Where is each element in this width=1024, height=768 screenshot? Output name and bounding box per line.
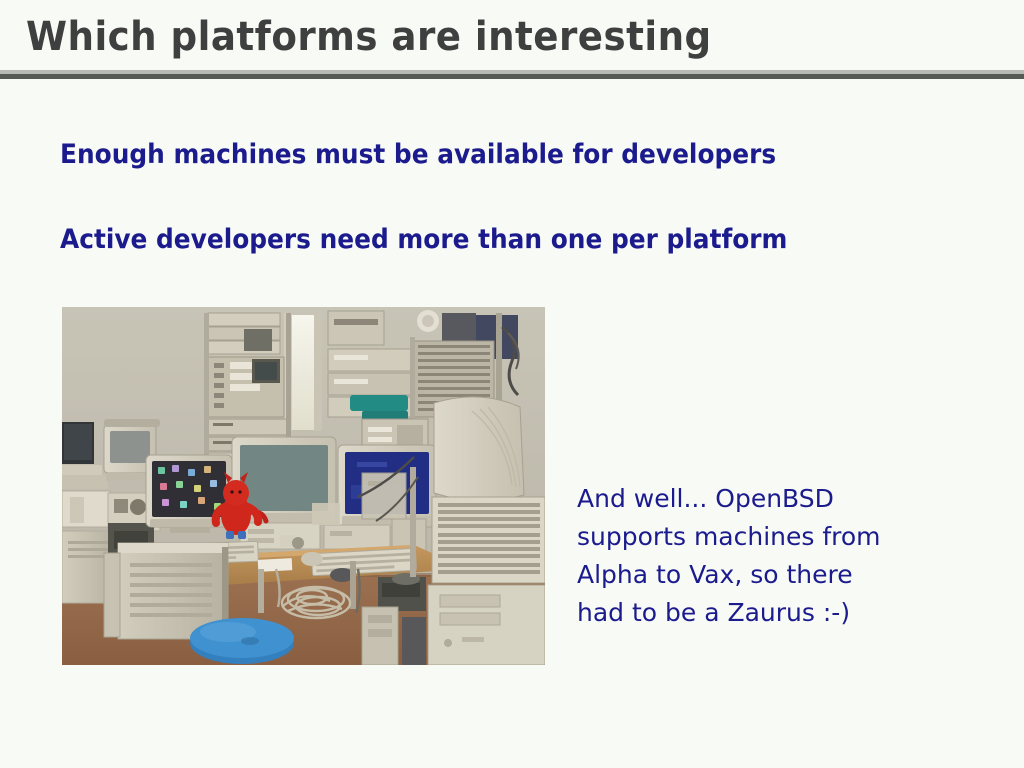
- caption-line-2: supports machines from: [577, 518, 957, 556]
- slide-canvas: Which platforms are interesting Enough m…: [0, 0, 1024, 768]
- machine-room-photo: [62, 307, 545, 665]
- caption-line-4: had to be a Zaurus :-): [577, 594, 957, 632]
- caption-line-1: And well... OpenBSD: [577, 480, 957, 518]
- caption-paragraph: And well... OpenBSD supports machines fr…: [577, 480, 957, 632]
- caption-line-3: Alpha to Vax, so there: [577, 556, 957, 594]
- title-divider: [0, 70, 1024, 79]
- title-divider-dark: [0, 74, 1024, 79]
- page-title: Which platforms are interesting: [26, 14, 712, 60]
- bullet-line-2: Active developers need more than one per…: [60, 224, 787, 255]
- bullet-line-1: Enough machines must be available for de…: [60, 139, 776, 170]
